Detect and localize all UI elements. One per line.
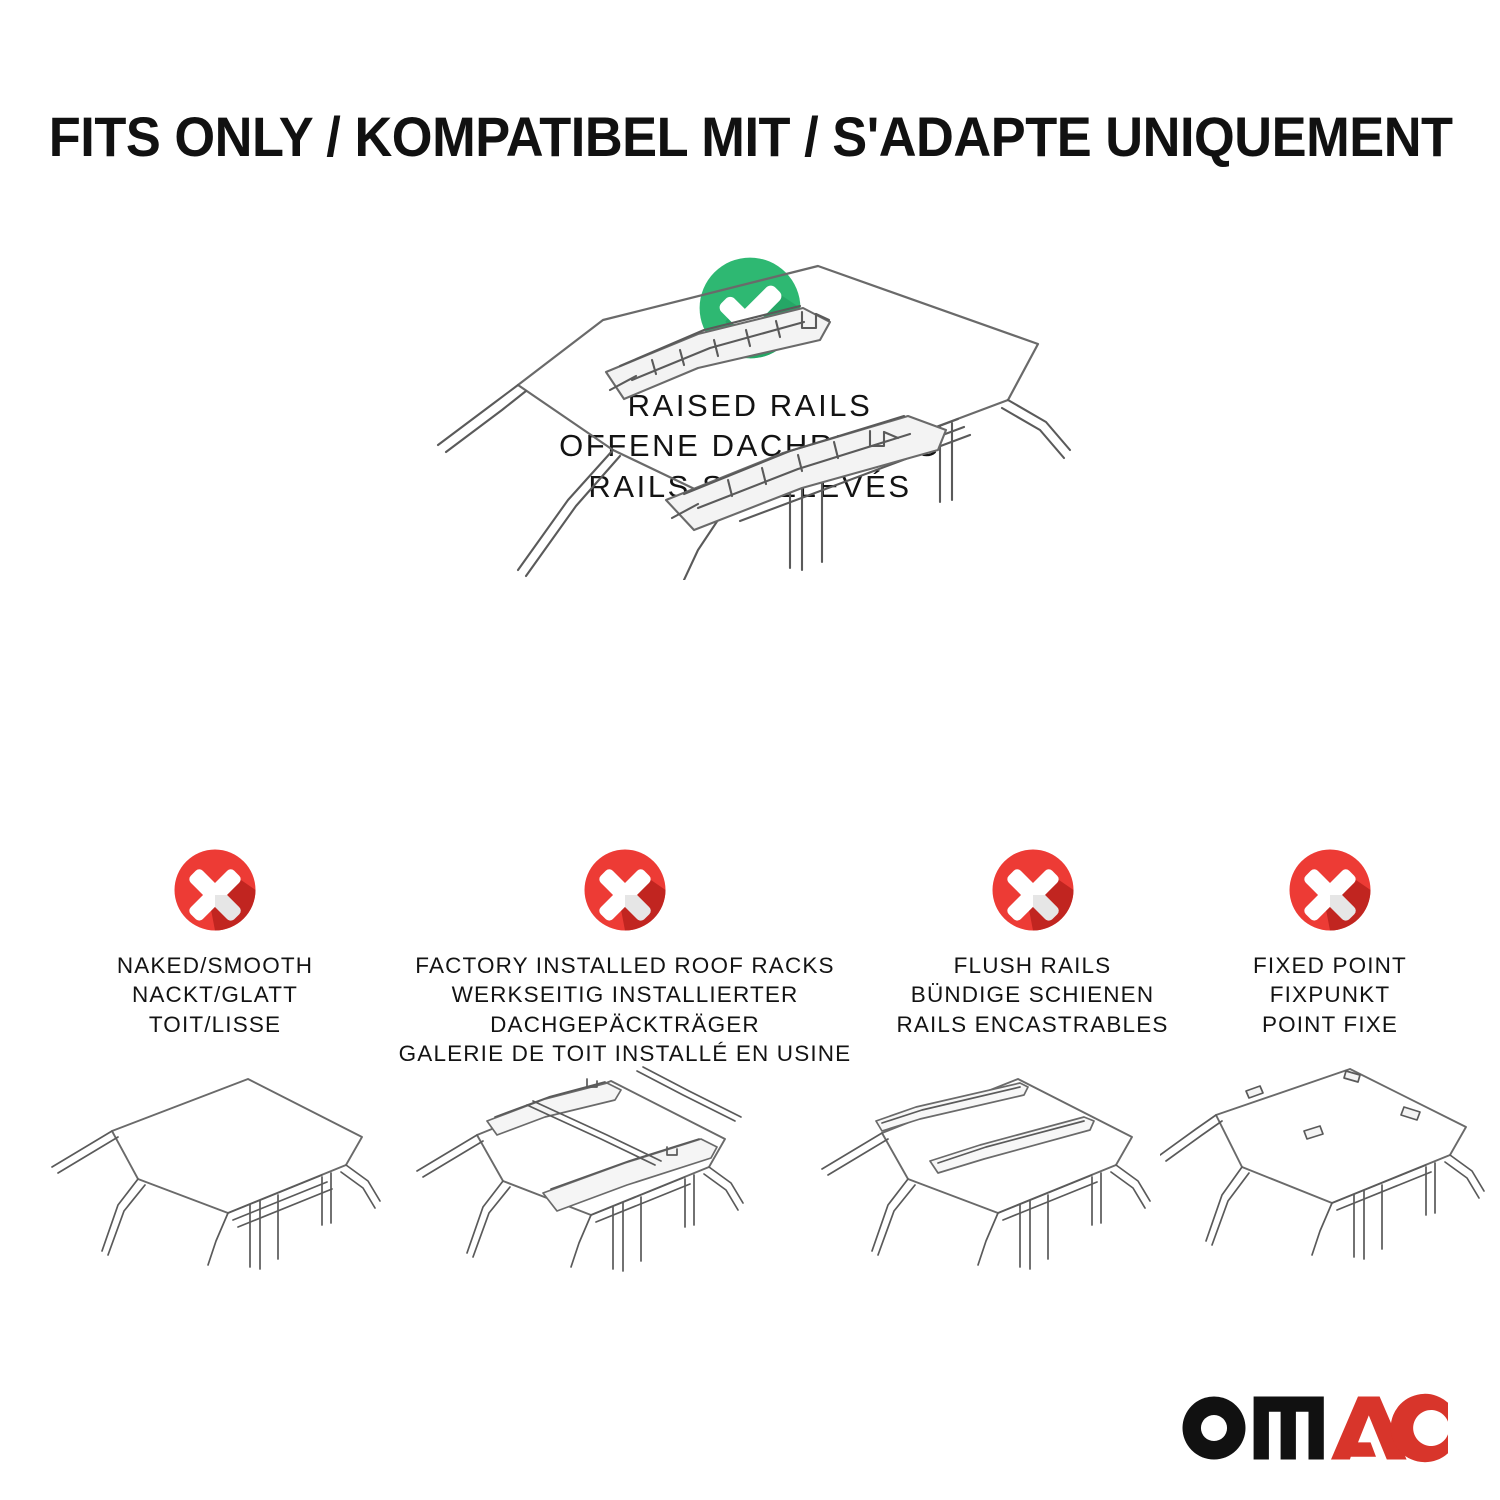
rejected-label-flush-rails: FLUSH RAILS BÜNDIGE SCHIENEN RAILS ENCAS… [875, 951, 1190, 1039]
rejected-label-naked-smooth: NAKED/SMOOTH NACKT/GLATT TOIT/LISSE [60, 951, 370, 1039]
logo-letter-m [1254, 1397, 1324, 1460]
cross-circle-icon [170, 845, 260, 935]
page-title: FITS ONLY / KOMPATIBEL MIT / S'ADAPTE UN… [49, 104, 1452, 169]
label-line-1: FIXED POINT [1205, 951, 1455, 980]
label-line-2: NACKT/GLATT [60, 980, 370, 1009]
car-roof-naked-smooth-illustration [50, 1055, 400, 1305]
car-roof-factory-roof-racks-illustration [415, 1055, 765, 1305]
car-roof-fixed-point-illustration [1160, 1055, 1500, 1305]
label-line-2: BÜNDIGE SCHIENEN [875, 980, 1190, 1009]
label-line-1: FACTORY INSTALLED ROOF RACKS [395, 951, 855, 980]
label-line-2: WERKSEITIG INSTALLIERTER [395, 980, 855, 1009]
label-line-3: RAILS ENCASTRABLES [875, 1010, 1190, 1039]
omac-logo: OMAC [1178, 1392, 1448, 1464]
car-roof-flush-rails-illustration [820, 1055, 1170, 1305]
rejected-item-naked-smooth: NAKED/SMOOTH NACKT/GLATT TOIT/LISSE [60, 845, 370, 1039]
cross-circle-icon [580, 845, 670, 935]
label-line-1: FLUSH RAILS [875, 951, 1190, 980]
rejected-item-flush-rails: FLUSH RAILS BÜNDIGE SCHIENEN RAILS ENCAS… [875, 845, 1190, 1039]
cross-circle-icon [988, 845, 1078, 935]
label-line-3: POINT FIXE [1205, 1010, 1455, 1039]
label-line-3: DACHGEPÄCKTRÄGER [395, 1010, 855, 1039]
rejected-label-factory-roof-racks: FACTORY INSTALLED ROOF RACKS WERKSEITIG … [395, 951, 855, 1068]
cross-circle-icon [1285, 845, 1375, 935]
label-line-3: TOIT/LISSE [60, 1010, 370, 1039]
car-roof-raised-rails-illustration [398, 250, 1118, 580]
rejected-item-factory-roof-racks: FACTORY INSTALLED ROOF RACKS WERKSEITIG … [395, 845, 855, 1068]
logo-letter-o [1183, 1397, 1246, 1460]
rejected-label-fixed-point: FIXED POINT FIXPUNKT POINT FIXE [1205, 951, 1455, 1039]
label-line-1: NAKED/SMOOTH [60, 951, 370, 980]
rejected-item-fixed-point: FIXED POINT FIXPUNKT POINT FIXE [1205, 845, 1455, 1039]
label-line-2: FIXPUNKT [1205, 980, 1455, 1009]
